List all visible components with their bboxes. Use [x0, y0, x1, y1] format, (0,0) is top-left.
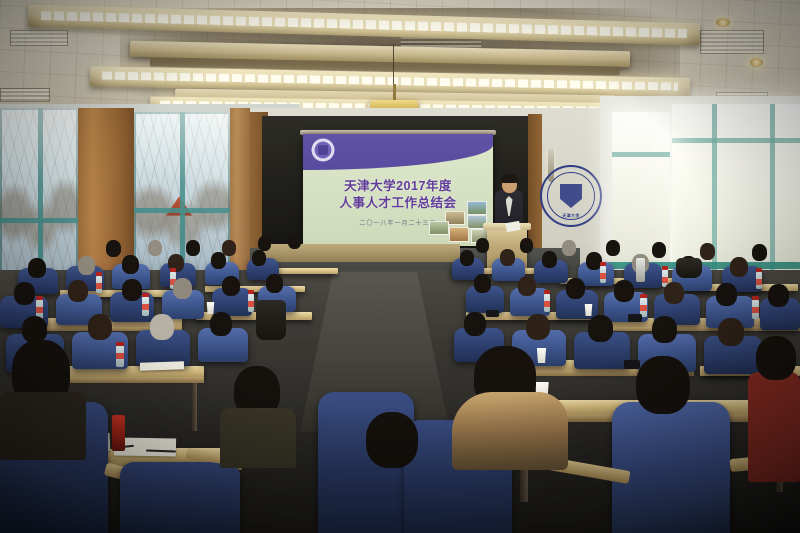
audience-head	[106, 240, 121, 257]
presentation-slide: 天津大学2017年度 人事人才工作总结会 二〇一八年一月二十三日	[303, 134, 493, 246]
audience-head	[288, 234, 301, 249]
water-bottle	[752, 300, 759, 319]
audience-torso-foreground	[452, 392, 568, 470]
downlight-icon	[716, 18, 730, 27]
audience-head	[122, 279, 142, 301]
audience-head	[700, 243, 715, 260]
audience-head	[150, 314, 174, 340]
chair-foreground	[612, 402, 730, 533]
backpack	[256, 300, 286, 340]
audience-head	[664, 282, 684, 304]
water-bottle	[756, 272, 762, 289]
downlight-icon	[750, 58, 763, 67]
audience-head	[22, 316, 47, 343]
audience-head	[68, 280, 88, 302]
window-right	[672, 104, 800, 272]
window-left-outer	[0, 108, 78, 278]
ceiling-vent	[10, 30, 68, 46]
audience-head	[173, 278, 192, 299]
projection-screen: 天津大学2017年度 人事人才工作总结会 二〇一八年一月二十三日	[303, 134, 493, 246]
desk-leg	[192, 383, 197, 431]
wall-pillar	[78, 108, 134, 280]
audience-head	[520, 238, 533, 253]
audience-head	[210, 312, 232, 336]
handbag	[676, 258, 702, 278]
audience-head	[652, 316, 677, 343]
smartphone	[624, 360, 640, 369]
ceiling-vent	[0, 88, 50, 102]
university-wall-emblem: 天津大学	[540, 165, 602, 227]
window-glare	[0, 108, 78, 278]
window-mullion	[612, 152, 670, 157]
window-right-far	[612, 112, 670, 262]
slide-title-line1: 天津大学2017年度	[303, 178, 493, 195]
ceiling-vent	[700, 30, 764, 54]
thermos-red	[112, 415, 125, 451]
audience-head	[588, 315, 613, 342]
water-bottle	[96, 276, 102, 293]
conference-hall-photo: 天津大学2017年度 人事人才工作总结会 二〇一八年一月二十三日 天津大学	[0, 0, 800, 533]
speaker-shirt	[506, 196, 513, 216]
audience-head	[652, 242, 666, 258]
chair-foreground	[120, 462, 240, 533]
audience-torso-foreground	[748, 372, 800, 482]
water-bottle	[544, 294, 550, 312]
audience-head	[718, 318, 744, 346]
audience-head	[518, 276, 536, 296]
audience-torso-foreground	[0, 392, 86, 460]
audience-head-foreground	[636, 356, 690, 414]
emblem-chinese-label: 天津大学	[542, 213, 600, 219]
water-bottle	[248, 294, 254, 312]
water-bottle	[142, 297, 149, 316]
audience-head	[476, 238, 489, 253]
audience-head	[78, 256, 95, 275]
audience-head	[566, 278, 585, 299]
audience-head	[526, 314, 550, 340]
audience-head	[460, 250, 474, 266]
audience-head	[222, 276, 240, 296]
audience-head	[464, 312, 486, 336]
audience-head-foreground	[756, 336, 796, 380]
smartphone	[486, 310, 499, 317]
audience-head	[752, 244, 767, 261]
audience-head	[266, 274, 283, 293]
speaker-hair	[501, 174, 518, 183]
window-mullion	[770, 104, 775, 272]
slide-thumbnail	[429, 221, 449, 235]
university-seal-icon	[313, 140, 333, 160]
audience-head	[542, 251, 557, 268]
slide-thumbnail	[449, 227, 469, 242]
audience-head-foreground	[366, 412, 418, 468]
audience-head	[768, 284, 789, 307]
audience-head	[716, 283, 737, 306]
emblem-shield-icon	[560, 184, 582, 208]
audience-head	[730, 257, 748, 277]
audience-torso-foreground	[220, 408, 296, 468]
audience-head	[252, 250, 266, 266]
water-bottle	[600, 266, 606, 283]
audience-head	[148, 240, 162, 256]
audience-head	[88, 314, 112, 340]
audience-head	[14, 282, 35, 305]
audience-head	[28, 258, 46, 278]
audience-head	[122, 255, 139, 274]
paper-sheet	[140, 361, 184, 371]
slide-thumbnail-group	[427, 201, 489, 243]
audience-head	[614, 280, 634, 302]
audience-head	[186, 240, 200, 256]
audience-head	[606, 240, 620, 256]
window-mullion	[672, 138, 800, 143]
audience-head	[258, 236, 271, 251]
audience-head	[474, 274, 491, 293]
slide-thumbnail	[467, 201, 487, 215]
audience-head	[500, 249, 515, 266]
smartphone	[628, 314, 642, 322]
audience-head	[222, 240, 236, 256]
audience-head	[562, 240, 576, 256]
thermos	[636, 258, 645, 282]
